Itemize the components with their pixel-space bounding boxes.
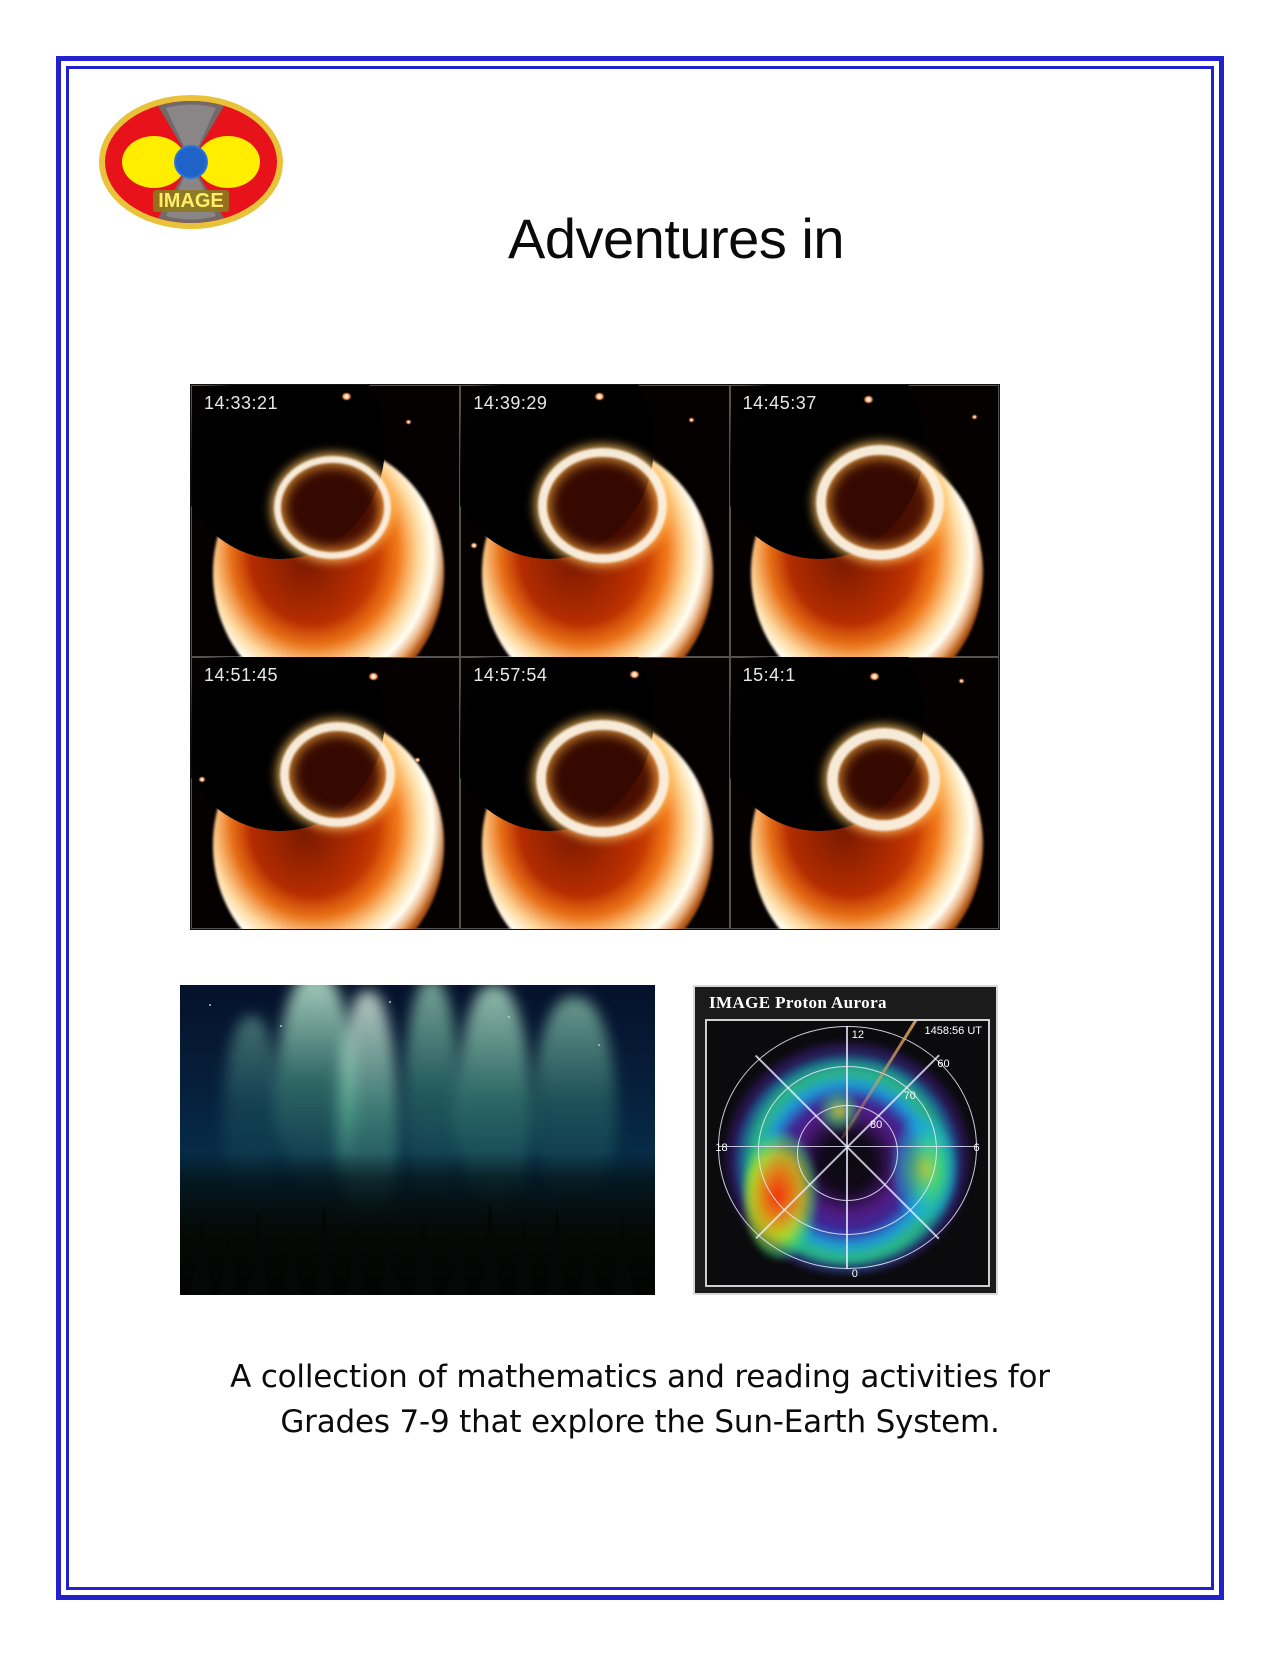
mosaic-panel: 14:33:21 xyxy=(191,385,460,657)
aurora-photograph xyxy=(180,985,655,1295)
latitude-label-70: 70 xyxy=(904,1090,916,1102)
mlt-label-0: 0 xyxy=(852,1268,858,1280)
plot-timestamp: 1458:56 UT xyxy=(925,1025,982,1037)
caption-line-1: A collection of mathematics and reading … xyxy=(120,1355,1160,1400)
mlt-label-18: 18 xyxy=(715,1142,727,1154)
image-mission-logo: IMAGE xyxy=(96,92,286,232)
mlt-label-6: 6 xyxy=(973,1142,979,1154)
aurora-image-mosaic: 14:33:21 14:39:29 14:45:37 14: xyxy=(190,384,1000,930)
mosaic-panel: 14:51:45 xyxy=(191,657,460,929)
background-star xyxy=(959,679,964,683)
plot-title: IMAGE Proton Aurora xyxy=(709,993,887,1013)
star xyxy=(209,1004,211,1006)
mosaic-panel: 14:39:29 xyxy=(460,385,729,657)
auroral-oval xyxy=(536,720,669,838)
logo-banner-text: IMAGE xyxy=(158,190,224,212)
caption-line-2: Grades 7-9 that explore the Sun-Earth Sy… xyxy=(120,1400,1160,1445)
tree xyxy=(247,1209,269,1295)
tree xyxy=(313,1203,335,1295)
background-star xyxy=(342,393,351,400)
tree xyxy=(346,1225,368,1295)
auroral-oval xyxy=(827,728,941,832)
tree xyxy=(479,1201,501,1295)
background-star xyxy=(689,418,694,422)
tree xyxy=(190,1221,212,1295)
latitude-label-80: 80 xyxy=(870,1119,882,1131)
cover-caption: A collection of mathematics and reading … xyxy=(120,1355,1160,1445)
star xyxy=(389,1001,391,1003)
tree xyxy=(218,1237,240,1295)
mosaic-panel: 15:4:1 xyxy=(730,657,999,929)
mosaic-panel: 14:57:54 xyxy=(460,657,729,929)
page-header: IMAGE Adventures in Space Science Mathem… xyxy=(66,80,1214,340)
tree xyxy=(413,1215,435,1295)
cover-page: IMAGE Adventures in Space Science Mathem… xyxy=(0,0,1280,1656)
tree xyxy=(280,1229,302,1295)
background-star xyxy=(972,415,977,419)
tree xyxy=(446,1231,468,1295)
background-star xyxy=(406,420,411,424)
panel-timestamp: 14:51:45 xyxy=(204,665,278,686)
tree xyxy=(380,1235,402,1295)
background-star xyxy=(199,777,205,782)
tree xyxy=(513,1223,535,1295)
background-star xyxy=(471,543,477,548)
tree xyxy=(612,1217,634,1295)
auroral-oval xyxy=(816,445,944,560)
title-line-1: Adventures in xyxy=(316,207,1036,270)
background-star xyxy=(415,758,420,762)
panel-timestamp: 14:45:37 xyxy=(743,393,817,414)
panel-timestamp: 14:39:29 xyxy=(473,393,547,414)
tree xyxy=(546,1207,568,1295)
proton-aurora-plot: IMAGE Proton Aurora 1458:56 UT 12 18 6 0 xyxy=(693,985,998,1295)
panel-timestamp: 15:4:1 xyxy=(743,665,796,686)
panel-timestamp: 14:33:21 xyxy=(204,393,278,414)
mlt-label-12: 12 xyxy=(852,1029,864,1041)
latitude-label-60: 60 xyxy=(937,1058,949,1070)
plot-axes-box: 1458:56 UT 12 18 6 0 60 70 80 xyxy=(705,1019,990,1287)
mosaic-panel: 14:45:37 xyxy=(730,385,999,657)
auroral-oval xyxy=(274,456,390,560)
background-star xyxy=(630,671,639,678)
panel-timestamp: 14:57:54 xyxy=(473,665,547,686)
tree xyxy=(579,1233,601,1295)
auroral-oval xyxy=(280,722,395,827)
image-logo-graphic: IMAGE xyxy=(96,92,286,232)
auroral-oval xyxy=(538,448,666,564)
